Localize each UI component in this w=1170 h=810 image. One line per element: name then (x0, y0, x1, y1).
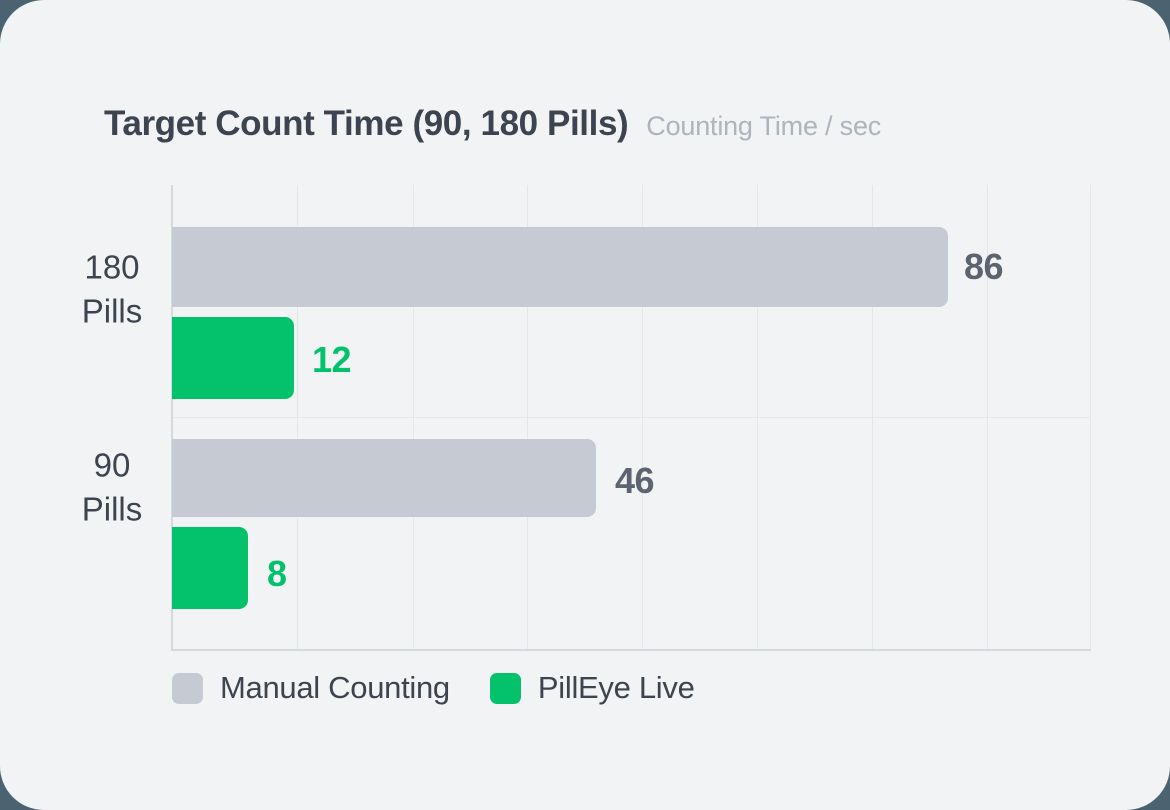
gridline-vertical (1090, 185, 1091, 649)
legend-item-manual-counting[interactable]: Manual Counting (172, 670, 450, 706)
bar-value-pilleye-90: 8 (267, 553, 287, 595)
y-axis-label-180-pills: 90 Pills (42, 443, 182, 530)
bar-pilleye-180[interactable] (172, 317, 294, 399)
bar-value-manual-180: 86 (964, 246, 1003, 288)
legend-swatch-manual (172, 673, 203, 704)
bar-value-manual-90: 46 (615, 460, 654, 502)
bar-value-pilleye-180: 12 (312, 339, 351, 381)
x-axis-line (171, 649, 1091, 651)
bar-manual-90[interactable] (172, 439, 596, 517)
page-title: Target Count Time (90, 180 Pills) (104, 104, 628, 144)
legend-item-pilleye-live[interactable]: PillEye Live (490, 670, 695, 706)
legend-label-pilleye: PillEye Live (538, 670, 695, 706)
legend-label-manual: Manual Counting (220, 670, 450, 706)
y-axis-label-90-pills: 180 Pills (42, 245, 182, 332)
chart-header: Target Count Time (90, 180 Pills) Counti… (104, 104, 881, 144)
gridline-horizontal (172, 417, 1090, 418)
chart-card: Target Count Time (90, 180 Pills) Counti… (0, 0, 1170, 810)
chart-legend: Manual Counting PillEye Live (172, 670, 695, 706)
chart-plot-area: 86 12 46 8 (172, 185, 1090, 649)
bar-manual-180[interactable] (172, 227, 948, 307)
legend-swatch-pilleye (490, 673, 521, 704)
chart-subtitle: Counting Time / sec (646, 111, 881, 142)
bar-pilleye-90[interactable] (172, 527, 248, 609)
